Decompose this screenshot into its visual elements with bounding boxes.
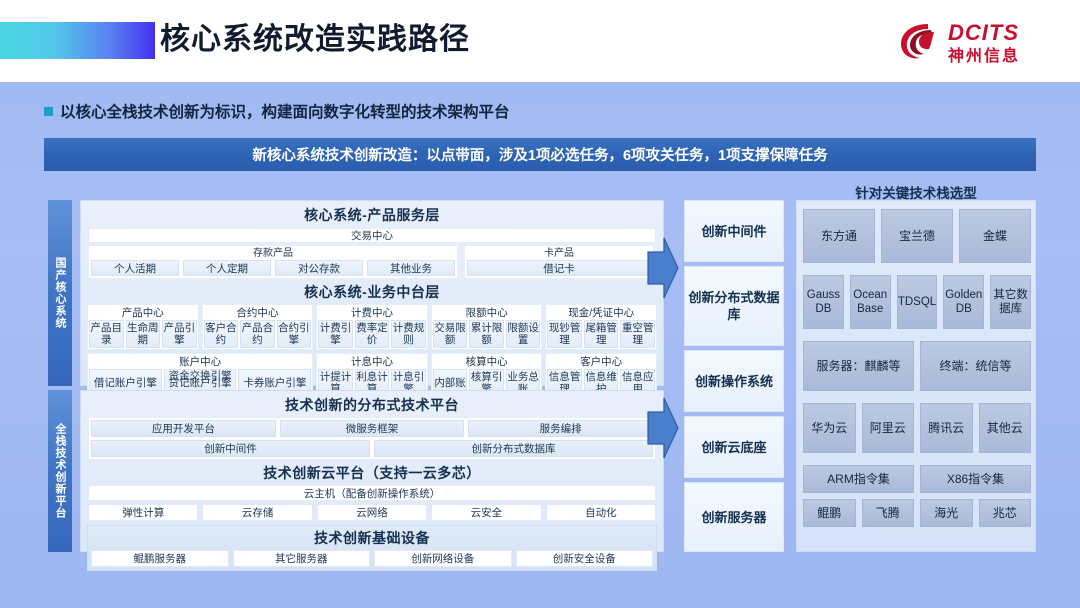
product-group-items: 个人活期 个人定期 对公存款 其他业务	[91, 260, 455, 276]
cloud-item[interactable]: 自动化	[546, 504, 656, 521]
product-group-deposit: 存款产品 个人活期 个人定期 对公存款 其他业务	[88, 245, 458, 279]
tech-stack-item[interactable]: 金蝶	[959, 209, 1031, 263]
left-stack: 国产核心系统 全栈技术创新平台 核心系统-产品服务层 交易中心 存款产品 个人活…	[44, 200, 664, 552]
product-group-items: 借记卡	[467, 260, 651, 276]
innovation-box-middleware[interactable]: 创新中间件	[684, 200, 784, 262]
tech-stack-item[interactable]: X86指令集	[920, 465, 1031, 493]
cloud-item[interactable]: 弹性计算	[88, 504, 198, 521]
cloud-platform-title: 技术创新云平台（支持一云多芯）	[84, 463, 660, 483]
center-item[interactable]: 交易限额	[433, 320, 468, 348]
center-item[interactable]: 累计限额	[469, 320, 504, 348]
tech-stack-item[interactable]: TDSQL	[897, 275, 938, 329]
innovation-box-os[interactable]: 创新操作系统	[684, 350, 784, 412]
tech-stack-item[interactable]: ARM指令集	[803, 465, 914, 493]
tech-stack-item[interactable]: 终端：统信等	[920, 341, 1031, 391]
tech-stack-group-os: 服务器：麒麟等 终端：统信等	[803, 341, 1031, 391]
innovation-column: 创新中间件 创新分布式数据库 创新操作系统 创新云底座 创新服务器	[684, 200, 784, 552]
business-center-contract: 合约中心 客户合约 产品合约 合约引擎	[202, 304, 314, 350]
center-title: 限额中心	[433, 306, 541, 320]
infrastructure-section: 技术创新基础设备 鲲鹏服务器 其它服务器 创新网络设备 创新安全设备	[87, 525, 657, 571]
page-title: 核心系统改造实践路径	[160, 19, 470, 61]
tech-stack-item[interactable]: 飞腾	[862, 499, 915, 527]
tech-stack-item[interactable]: 其它数据库	[990, 275, 1031, 329]
cloud-item[interactable]: 云网络	[317, 504, 427, 521]
product-item[interactable]: 个人定期	[183, 260, 271, 276]
business-layer-title: 核心系统-业务中台层	[84, 282, 660, 302]
section-heading: 以核心全栈技术创新为标识，构建面向数字化转型的技术架构平台	[44, 100, 510, 122]
tech-stack-item[interactable]: 兆芯	[979, 499, 1032, 527]
center-title: 账户中心	[89, 355, 311, 369]
cloud-item[interactable]: 云存储	[202, 504, 312, 521]
center-items: 客户合约 产品合约 合约引擎	[204, 320, 312, 348]
cloud-platform-items: 弹性计算 云存储 云网络 云安全 自动化	[88, 504, 656, 521]
center-title: 核算中心	[433, 355, 541, 369]
center-item[interactable]: 限额设置	[506, 320, 541, 348]
product-group-title: 存款产品	[91, 247, 455, 260]
right-arrow-icon	[646, 394, 680, 462]
platform-item[interactable]: 应用开发平台	[91, 420, 276, 437]
center-title: 计费中心	[318, 306, 426, 320]
vertical-label-fullstack-platform: 全栈技术创新平台	[48, 390, 72, 552]
product-group-title: 卡产品	[467, 247, 651, 260]
infrastructure-item[interactable]: 创新网络设备	[374, 550, 512, 567]
center-title: 产品中心	[89, 306, 197, 320]
fullstack-platform-panel: 技术创新的分布式技术平台 应用开发平台 微服务框架 服务编排 创新中间件 创新分…	[80, 390, 664, 552]
product-layer-title: 核心系统-产品服务层	[84, 205, 660, 225]
business-center-limit: 限额中心 交易限额 累计限额 限额设置	[431, 304, 543, 350]
business-center-cash-voucher: 现金/凭证中心 现钞管理 尾箱管理 重空管理	[545, 304, 657, 350]
tech-stack-item[interactable]: 服务器：麒麟等	[803, 341, 914, 391]
center-item[interactable]: 客户合约	[204, 320, 239, 348]
architecture-diagram: 国产核心系统 全栈技术创新平台 核心系统-产品服务层 交易中心 存款产品 个人活…	[44, 182, 1036, 556]
tech-stack-title: 针对关键技术栈选型	[796, 182, 1036, 202]
tech-stack-item[interactable]: 华为云	[803, 403, 856, 453]
center-item[interactable]: 现钞管理	[547, 320, 582, 348]
business-center-billing: 计费中心 计费引擎 费率定价 计费规则	[316, 304, 428, 350]
tech-stack-group-middleware: 东方通 宝兰德 金蝶	[803, 209, 1031, 263]
center-item[interactable]: 重空管理	[620, 320, 655, 348]
tech-stack-item[interactable]: 阿里云	[862, 403, 915, 453]
center-title: 合约中心	[204, 306, 312, 320]
product-item[interactable]: 对公存款	[275, 260, 363, 276]
highlight-banner: 新核心系统技术创新改造：以点带面，涉及1项必选任务，6项攻关任务，1项支撑保障任…	[44, 138, 1036, 171]
tech-stack-item[interactable]: GaussDB	[803, 275, 844, 329]
infrastructure-item[interactable]: 其它服务器	[233, 550, 371, 567]
tech-stack-group-chips: 鲲鹏 飞腾 海光 兆芯	[803, 499, 1031, 527]
center-items: 产品目录 生命周期 产品引擎	[89, 320, 197, 348]
center-items: 现钞管理 尾箱管理 重空管理	[547, 320, 655, 348]
center-item[interactable]: 计费引擎	[318, 320, 353, 348]
right-arrow-icon	[646, 234, 680, 302]
tech-stack-item[interactable]: OceanBase	[850, 275, 891, 329]
tech-stack-item[interactable]: 其他云	[979, 403, 1032, 453]
platform-item[interactable]: 服务编排	[468, 420, 653, 437]
tech-stack-item[interactable]: 海光	[920, 499, 973, 527]
business-center-product: 产品中心 产品目录 生命周期 产品引擎	[87, 304, 199, 350]
center-item[interactable]: 费率定价	[355, 320, 390, 348]
center-item[interactable]: 产品合约	[240, 320, 275, 348]
tech-stack-column: 针对关键技术栈选型 东方通 宝兰德 金蝶 GaussDB OceanBase T…	[796, 182, 1036, 552]
cloud-item[interactable]: 云安全	[431, 504, 541, 521]
product-item[interactable]: 借记卡	[467, 260, 651, 276]
header-accent-bar	[0, 22, 155, 59]
page-header: 核心系统改造实践路径 DCITS 神州信息	[0, 0, 1080, 82]
infrastructure-item[interactable]: 鲲鹏服务器	[91, 550, 229, 567]
center-title: 客户中心	[547, 355, 655, 369]
product-item[interactable]: 个人活期	[91, 260, 179, 276]
section-heading-text: 以核心全栈技术创新为标识，构建面向数字化转型的技术架构平台	[60, 100, 510, 122]
core-system-panel: 核心系统-产品服务层 交易中心 存款产品 个人活期 个人定期 对公存款 其他业务…	[80, 200, 664, 386]
platform-item[interactable]: 微服务框架	[280, 420, 465, 437]
tech-stack-item[interactable]: GoldenDB	[943, 275, 984, 329]
innovation-box-cloud-base[interactable]: 创新云底座	[684, 416, 784, 478]
center-items: 计费引擎 费率定价 计费规则	[318, 320, 426, 348]
business-centers-grid: 产品中心 产品目录 生命周期 产品引擎 合约中心 客户合约 产品合约 合约引擎	[87, 304, 657, 399]
infrastructure-item[interactable]: 创新安全设备	[516, 550, 654, 567]
center-title: 计息中心	[318, 355, 426, 369]
product-item[interactable]: 其他业务	[367, 260, 455, 276]
trade-center-band: 交易中心	[88, 228, 656, 243]
center-items: 交易限额 累计限额 限额设置	[433, 320, 541, 348]
platform-item[interactable]: 创新中间件	[91, 440, 370, 457]
tech-stack-group-instruction-sets: ARM指令集 X86指令集	[803, 465, 1031, 493]
tech-stack-group-cloud: 华为云 阿里云 腾讯云 其他云	[803, 403, 1031, 453]
distributed-platform-row-2: 创新中间件 创新分布式数据库	[91, 440, 653, 457]
distributed-platform-row-1: 应用开发平台 微服务框架 服务编排	[91, 420, 653, 437]
cloud-host-band: 云主机（配备创新操作系统）	[88, 485, 656, 501]
center-item[interactable]: 生命周期	[126, 320, 161, 348]
product-groups: 存款产品 个人活期 个人定期 对公存款 其他业务 卡产品 借记卡	[88, 245, 656, 279]
dcits-swoosh-icon	[898, 20, 942, 62]
center-item[interactable]: 尾箱管理	[584, 320, 619, 348]
dcits-logo: DCITS 神州信息	[898, 18, 1038, 66]
center-item[interactable]: 产品目录	[89, 320, 124, 348]
innovation-box-database[interactable]: 创新分布式数据库	[684, 266, 784, 346]
tech-stack-item[interactable]: 宝兰德	[881, 209, 953, 263]
logo-text-cn: 神州信息	[948, 42, 1020, 66]
tech-stack-item[interactable]: 腾讯云	[920, 403, 973, 453]
bullet-square-icon	[44, 107, 53, 116]
product-group-card: 卡产品 借记卡	[464, 245, 654, 279]
vertical-label-core-system: 国产核心系统	[48, 200, 72, 386]
banner-text: 新核心系统技术创新改造：以点带面，涉及1项必选任务，6项攻关任务，1项支撑保障任…	[252, 144, 827, 165]
infrastructure-title: 技术创新基础设备	[91, 528, 653, 548]
center-item[interactable]: 合约引擎	[277, 320, 312, 348]
center-item[interactable]: 计费规则	[391, 320, 426, 348]
tech-stack-item[interactable]: 鲲鹏	[803, 499, 856, 527]
tech-stack-item[interactable]: 东方通	[803, 209, 875, 263]
tech-stack-panel: 东方通 宝兰德 金蝶 GaussDB OceanBase TDSQL Golde…	[796, 200, 1036, 552]
distributed-platform-body: 应用开发平台 微服务框架 服务编排 创新中间件 创新分布式数据库	[88, 417, 656, 460]
distributed-platform-title: 技术创新的分布式技术平台	[84, 395, 660, 415]
innovation-box-server[interactable]: 创新服务器	[684, 482, 784, 552]
tech-stack-group-database: GaussDB OceanBase TDSQL GoldenDB 其它数据库	[803, 275, 1031, 329]
infrastructure-items: 鲲鹏服务器 其它服务器 创新网络设备 创新安全设备	[91, 550, 653, 567]
platform-item[interactable]: 创新分布式数据库	[374, 440, 653, 457]
center-item[interactable]: 产品引擎	[162, 320, 197, 348]
center-title: 现金/凭证中心	[547, 306, 655, 320]
